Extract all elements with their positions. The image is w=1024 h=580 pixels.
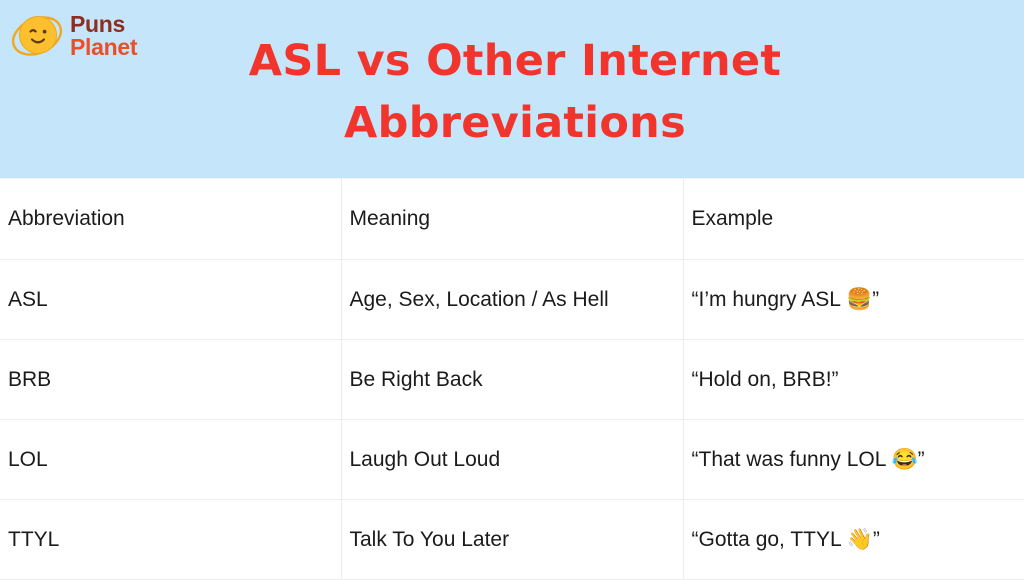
- table-header-row: Abbreviation Meaning Example: [0, 179, 1024, 260]
- column-header-abbreviation: Abbreviation: [0, 179, 341, 260]
- cell-abbreviation: ASL: [0, 260, 341, 340]
- column-header-example: Example: [683, 179, 1024, 260]
- table-row: BRB Be Right Back “Hold on, BRB!”: [0, 340, 1024, 420]
- cell-example: “That was funny LOL 😂”: [683, 420, 1024, 500]
- cell-meaning: Age, Sex, Location / As Hell: [341, 260, 683, 340]
- page-title: ASL vs Other Internet Abbreviations: [150, 30, 880, 155]
- cell-abbreviation: LOL: [0, 420, 341, 500]
- cell-abbreviation: TTYL: [0, 500, 341, 580]
- column-header-meaning: Meaning: [341, 179, 683, 260]
- cell-abbreviation: BRB: [0, 340, 341, 420]
- header-banner: Puns Planet ASL vs Other Internet Abbrev…: [0, 0, 1024, 178]
- table-row: TTYL Talk To You Later “Gotta go, TTYL 👋…: [0, 500, 1024, 580]
- cell-example: “Gotta go, TTYL 👋”: [683, 500, 1024, 580]
- table-row: LOL Laugh Out Loud “That was funny LOL 😂…: [0, 420, 1024, 500]
- cell-meaning: Talk To You Later: [341, 500, 683, 580]
- table-row: ASL Age, Sex, Location / As Hell “I’m hu…: [0, 260, 1024, 340]
- brand-name-line1: Puns: [70, 13, 137, 36]
- brand-name-line2: Planet: [70, 36, 137, 59]
- brand-wordmark: Puns Planet: [70, 13, 137, 58]
- brand-logo[interactable]: Puns Planet: [10, 10, 137, 62]
- page-root: Puns Planet ASL vs Other Internet Abbrev…: [0, 0, 1024, 576]
- cell-meaning: Laugh Out Loud: [341, 420, 683, 500]
- cell-meaning: Be Right Back: [341, 340, 683, 420]
- abbreviations-table: Abbreviation Meaning Example ASL Age, Se…: [0, 178, 1024, 580]
- smiling-planet-icon: [10, 10, 64, 62]
- cell-example: “I’m hungry ASL 🍔”: [683, 260, 1024, 340]
- cell-example: “Hold on, BRB!”: [683, 340, 1024, 420]
